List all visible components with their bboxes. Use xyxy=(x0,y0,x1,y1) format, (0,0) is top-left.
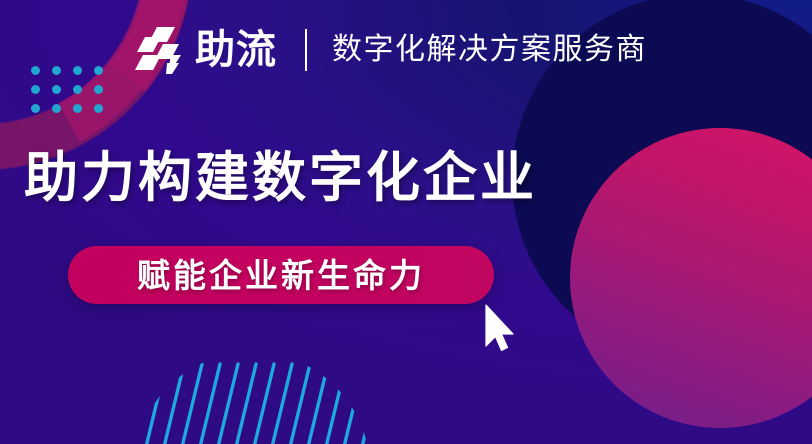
zhuliu-logo-mark-icon xyxy=(131,25,185,75)
diagonal-line-dome-pattern xyxy=(118,350,388,444)
promo-banner: 助流 数字化解决方案服务商 助力构建数字化企业 赋能企业新生命力 xyxy=(0,0,812,444)
header-divider xyxy=(305,29,307,71)
grid-dot xyxy=(52,66,61,75)
grid-dot xyxy=(31,104,40,113)
grid-dot xyxy=(31,85,40,94)
brand-wordmark: 助流 xyxy=(195,30,277,70)
mouse-pointer-arrow-icon xyxy=(481,303,519,355)
dot-grid-pattern xyxy=(31,66,115,123)
grid-dot xyxy=(94,85,103,94)
grid-dot xyxy=(52,104,61,113)
grid-dot xyxy=(73,66,82,75)
grid-dot xyxy=(73,104,82,113)
cta-button-label: 赋能企业新生命力 xyxy=(137,259,425,292)
grid-dot xyxy=(94,66,103,75)
page-title: 助力构建数字化企业 xyxy=(24,148,537,208)
cta-button[interactable]: 赋能企业新生命力 xyxy=(68,246,494,304)
grid-dot xyxy=(73,85,82,94)
grid-dot xyxy=(31,66,40,75)
banner-header: 助流 数字化解决方案服务商 xyxy=(131,22,647,78)
brand-tagline: 数字化解决方案服务商 xyxy=(332,35,647,65)
grid-dot xyxy=(94,104,103,113)
magenta-circle-shape xyxy=(570,128,812,428)
grid-dot xyxy=(52,85,61,94)
